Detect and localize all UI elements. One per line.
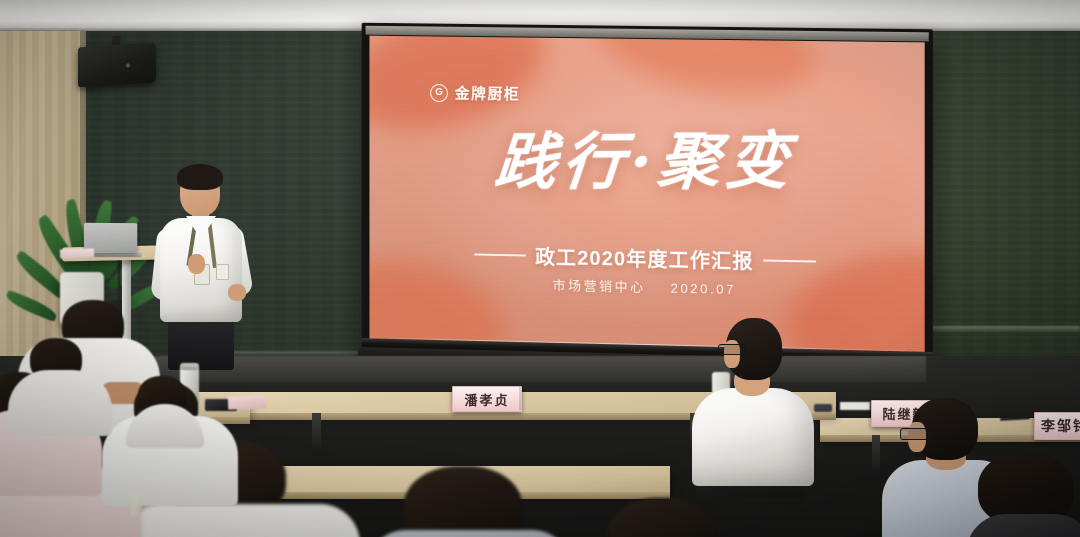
attendee-shirt <box>126 404 204 448</box>
presenter-id-card <box>216 264 229 280</box>
attendee-right-back <box>972 452 1080 537</box>
attendee-bottom-far-right <box>588 498 778 537</box>
slide-meta-date: 2020.07 <box>671 281 736 297</box>
presenter-trousers <box>168 318 234 370</box>
attendee-head <box>404 466 522 537</box>
thermos-cap <box>180 363 199 370</box>
slide-meta-department: 市场营销中心 <box>553 278 646 295</box>
placard-name: 李邹铭 <box>1041 416 1080 436</box>
brand-name: 金牌厨柜 <box>455 82 520 104</box>
glasses-icon <box>718 344 746 355</box>
rule-left <box>474 253 525 256</box>
attendee-shirt <box>692 388 814 486</box>
attendee-shirt <box>366 530 572 537</box>
brand-g-icon: G <box>430 84 448 102</box>
attendee-shirt <box>8 370 112 436</box>
attendee-mid-left <box>130 376 200 436</box>
name-placard: 李邹铭 <box>1034 412 1080 440</box>
glasses-icon <box>900 428 932 440</box>
presenter-hair <box>177 164 223 190</box>
slide-surface: G 金牌厨柜 践行·聚变 政工2020年度工作汇报 市场营销中心 2020.07 <box>369 36 924 352</box>
attendee-shirt <box>966 514 1080 537</box>
attendee-shirt <box>122 504 360 537</box>
name-placard: 潘孝贞 <box>452 386 522 412</box>
paper-right-desk <box>840 402 870 410</box>
presenter-hand-left <box>188 254 205 274</box>
attendee-bottom-right-fg <box>378 466 568 537</box>
attendee-front-center <box>690 318 820 498</box>
attendee-head <box>608 498 718 537</box>
podium-papers <box>60 248 94 258</box>
brand-logo: G 金牌厨柜 <box>430 82 520 104</box>
presentation-photo: G 金牌厨柜 践行·聚变 政工2020年度工作汇报 市场营销中心 2020.07 <box>0 0 1080 537</box>
rule-right <box>764 259 817 262</box>
projection-screen: G 金牌厨柜 践行·聚变 政工2020年度工作汇报 市场营销中心 2020.07 <box>362 23 933 376</box>
slide-title: 践行·聚变 <box>369 130 924 194</box>
placard-name: 潘孝贞 <box>464 390 509 409</box>
wall-speaker-icon <box>78 43 156 88</box>
attendee-far-left <box>14 338 110 428</box>
presenter-hand-right <box>228 284 246 301</box>
slide-subtitle: 政工2020年度工作汇报 <box>535 241 754 275</box>
